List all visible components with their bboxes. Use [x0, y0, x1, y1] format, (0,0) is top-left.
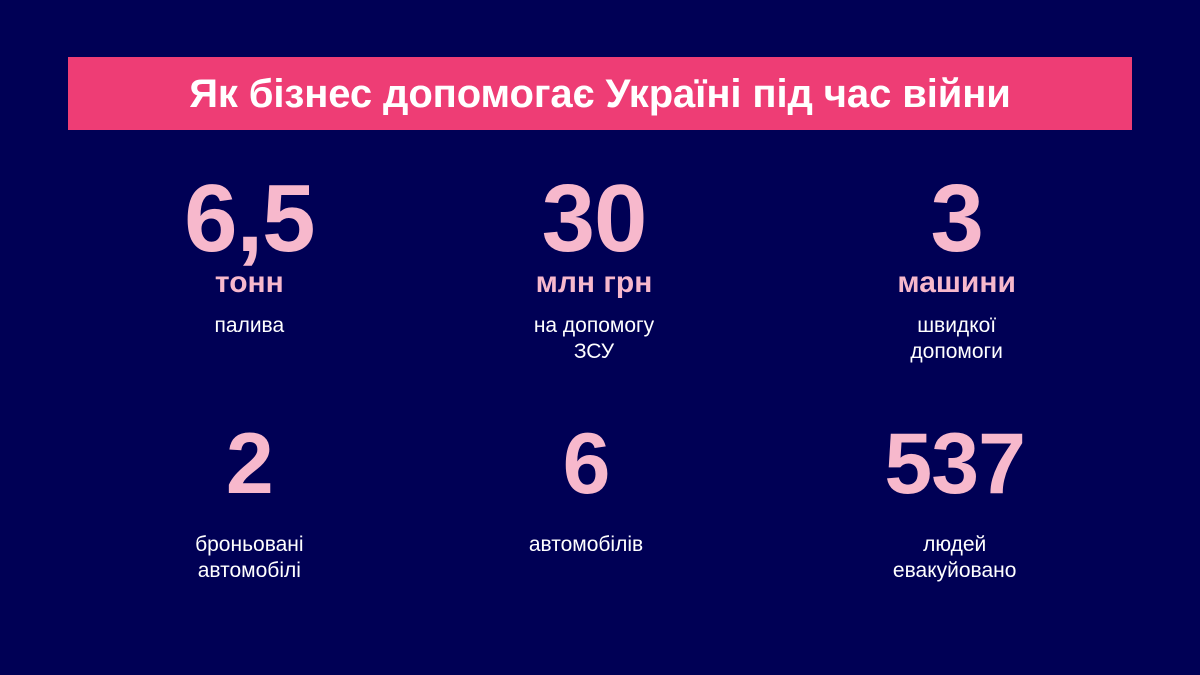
stat-unit: млн грн [536, 267, 653, 299]
stat-item-armored-cars: 2 броньовані автомобілі [72, 425, 427, 645]
stat-item-fuel: 6,5 тонн палива [72, 175, 427, 425]
stat-unit: машини [897, 267, 1016, 299]
stat-number: 6 [563, 425, 610, 504]
stats-row-bottom: 2 броньовані автомобілі 6 автомобілів 53… [68, 425, 1132, 645]
stat-item-money: 30 млн грн на допомогу ЗСУ [417, 175, 772, 425]
stat-caption: людей евакуйовано [893, 532, 1017, 585]
stat-number: 30 [542, 175, 647, 263]
stat-item-evacuated: 537 людей евакуйовано [777, 425, 1132, 645]
stats-grid: 6,5 тонн палива 30 млн грн на допомогу З… [68, 175, 1132, 645]
stat-caption: автомобілів [529, 532, 643, 558]
stat-item-cars: 6 автомобілів [409, 425, 764, 645]
page-title: Як бізнес допомогає Україні під час війн… [189, 74, 1011, 114]
stat-number: 2 [226, 425, 273, 504]
stat-number: 537 [884, 425, 1025, 504]
stat-caption: швидкої допомоги [910, 313, 1003, 366]
stat-number: 6,5 [184, 175, 314, 263]
stat-caption: броньовані автомобілі [195, 532, 303, 585]
stat-unit: тонн [215, 267, 284, 299]
stat-caption: на допомогу ЗСУ [534, 313, 654, 366]
stats-row-top: 6,5 тонн палива 30 млн грн на допомогу З… [68, 175, 1132, 425]
infographic-poster: Як бізнес допомогає Україні під час війн… [0, 0, 1200, 675]
title-banner: Як бізнес допомогає Україні під час війн… [68, 57, 1132, 130]
stat-caption: палива [215, 313, 285, 339]
stat-item-ambulances: 3 машини швидкої допомоги [779, 175, 1134, 425]
stat-number: 3 [930, 175, 982, 263]
